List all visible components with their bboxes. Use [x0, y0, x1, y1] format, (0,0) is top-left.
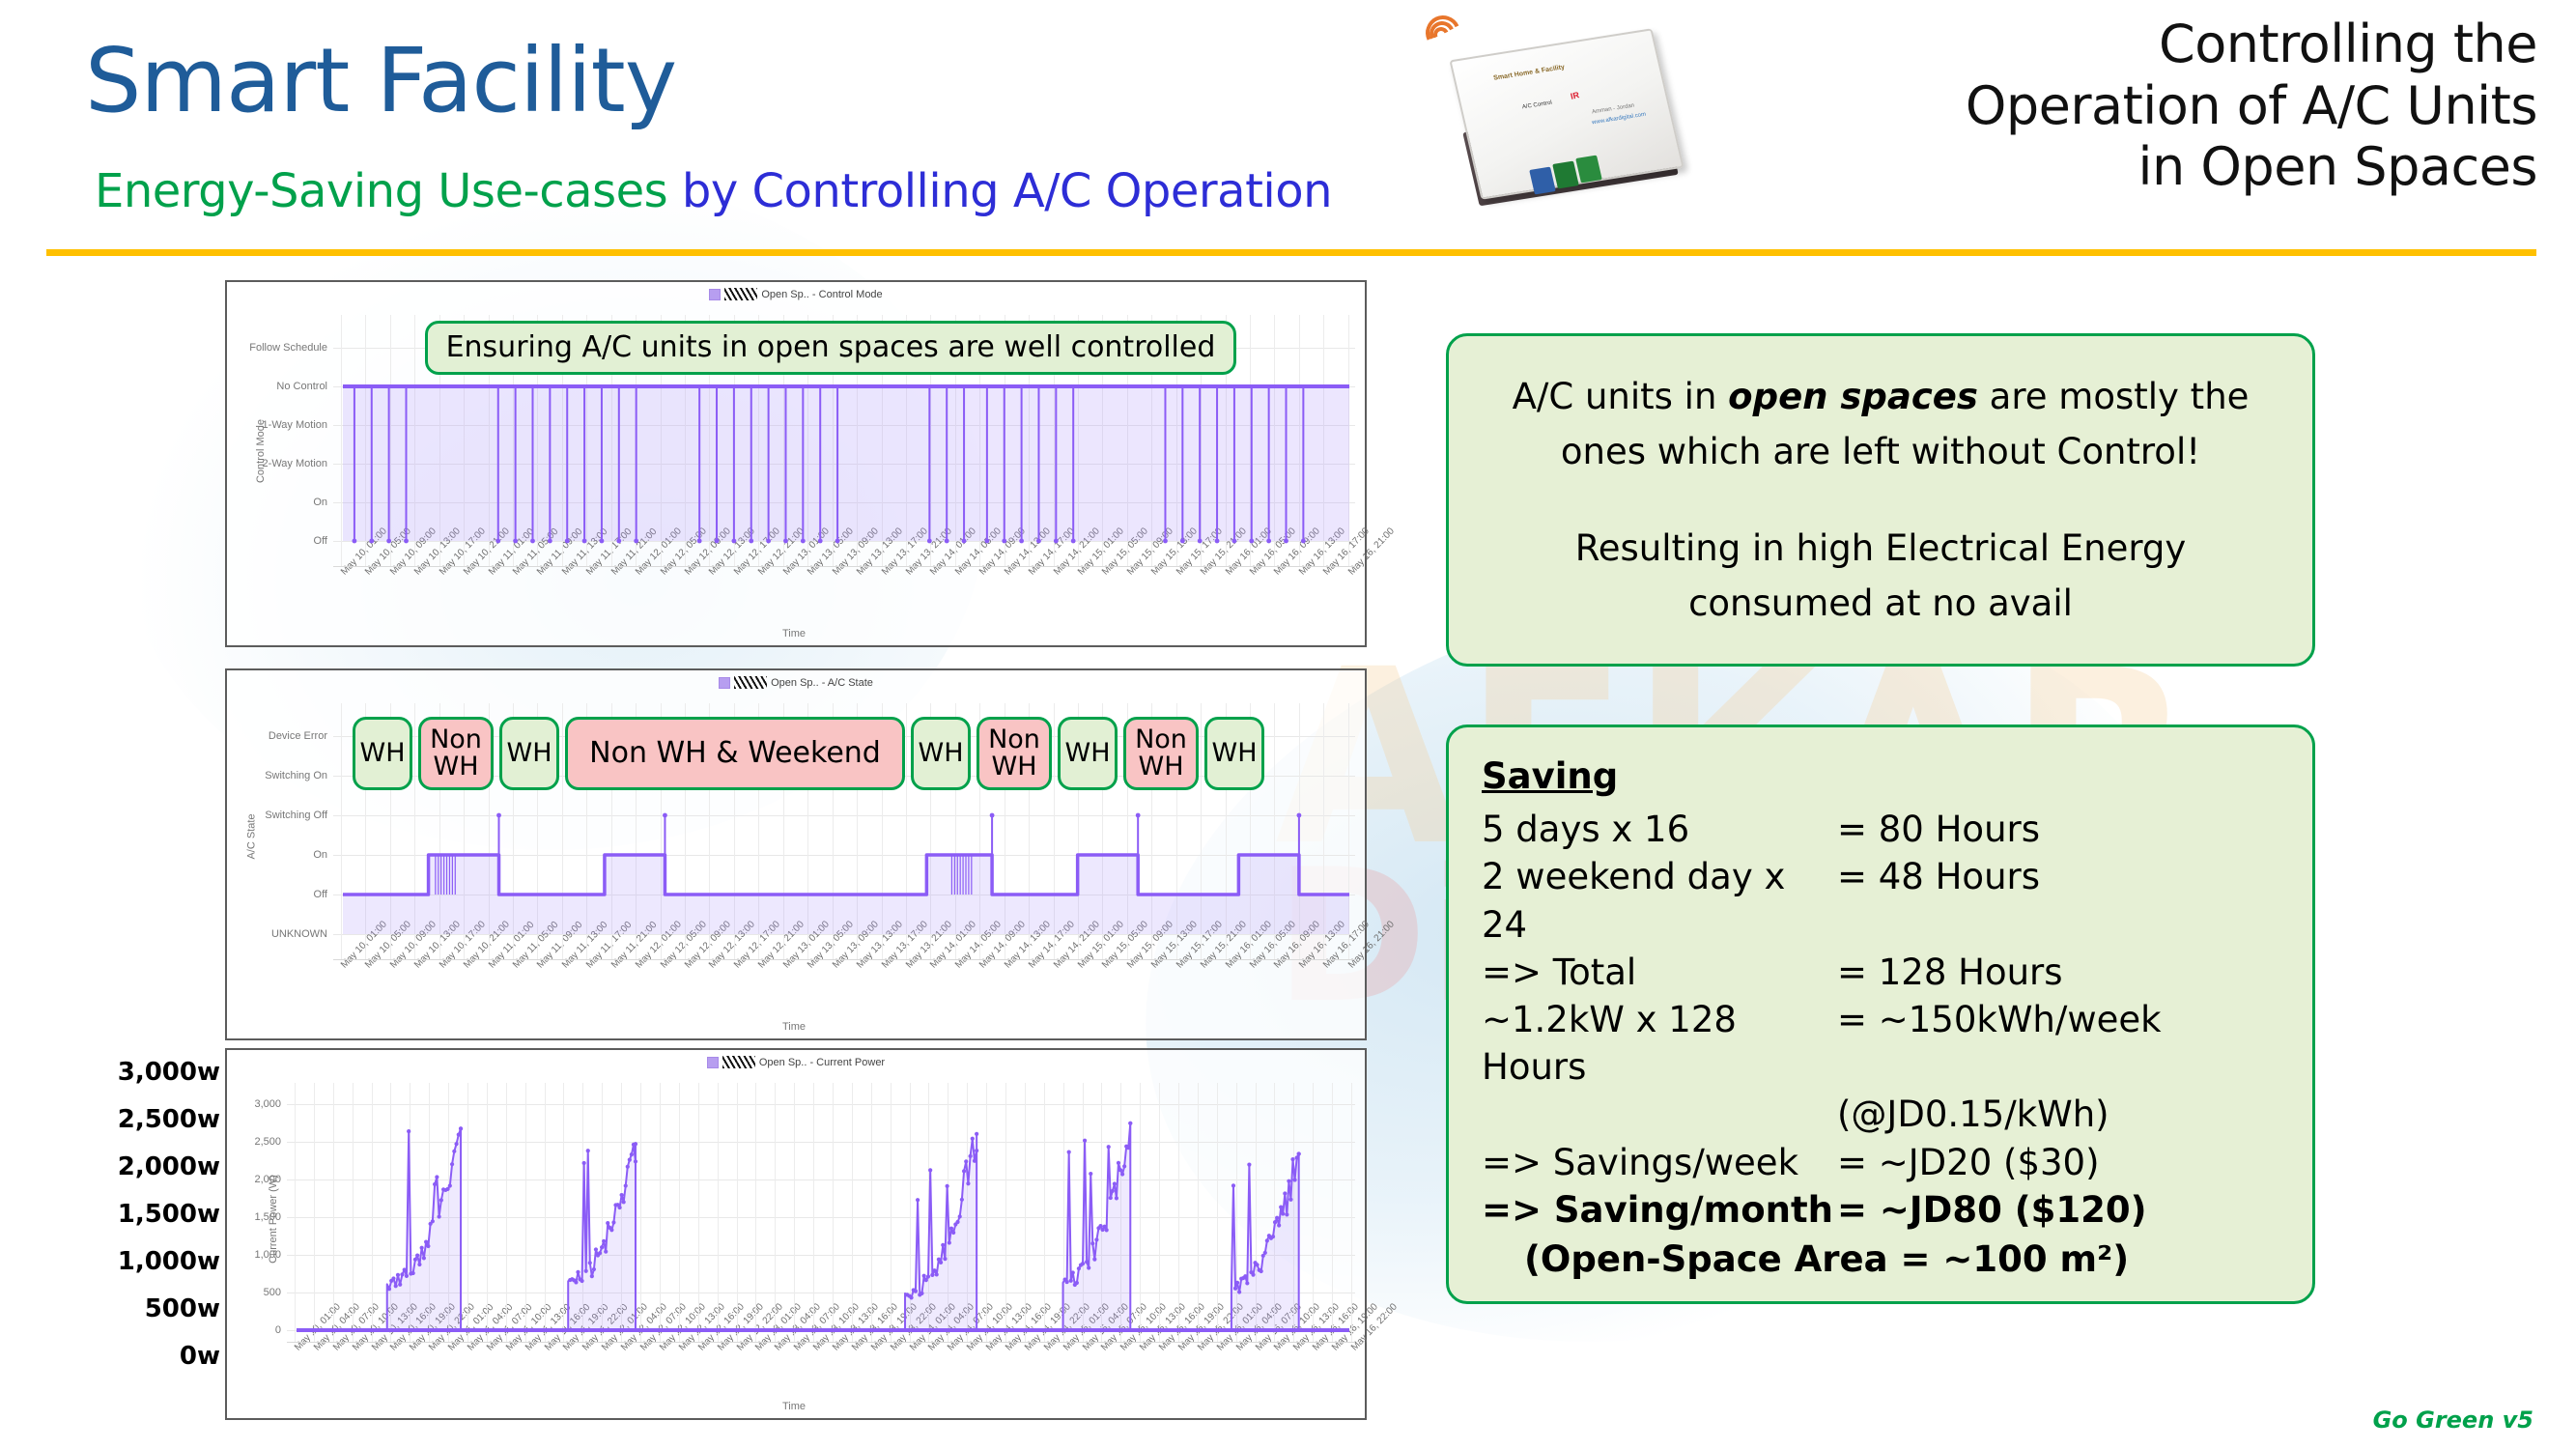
problem-statement-box: A/C units in open spaces are mostly the …	[1446, 333, 2315, 667]
slide-heading-line-2: Operation of A/C Units	[1966, 75, 2537, 137]
slide-heading: Controlling the Operation of A/C Units i…	[1966, 14, 2537, 198]
problem-line4: consumed at no avail	[1513, 576, 2250, 631]
chart3-x-axis-title: Time	[782, 1401, 806, 1412]
chart1-callout: Ensuring A/C units in open spaces are we…	[425, 321, 1236, 375]
savings-rows: 5 days x 16= 80 Hours2 weekend day x 24=…	[1482, 806, 2312, 1234]
y-axis-tick-label: Device Error	[269, 730, 327, 742]
y-axis-tick-label: 2,500	[254, 1136, 281, 1148]
savings-footnote-text: (Open-Space Area = ~100 m²)	[1524, 1238, 2129, 1280]
schedule-band-non-wh: Non WH	[977, 717, 1052, 790]
chart2-y-axis-title: A/C State	[246, 813, 258, 859]
schedule-band-wh: WH	[499, 717, 559, 790]
y-axis-tick-label: No Control	[276, 381, 327, 392]
wifi-wave-arc-3	[1421, 11, 1465, 55]
savings-row-value: (@JD0.15/kWh)	[1837, 1091, 2109, 1138]
power-axis-overlay-label: 0w	[180, 1342, 220, 1371]
savings-calculation-box: Saving 5 days x 16= 80 Hours2 weekend da…	[1446, 724, 2315, 1304]
schedule-band-non-wh: Non WH	[1123, 717, 1199, 790]
y-axis-tick-label: Off	[314, 889, 327, 900]
footer-version-label: Go Green v5	[2373, 1406, 2534, 1434]
schedule-band-wh: WH	[353, 717, 412, 790]
y-axis-tick-label: 500	[264, 1287, 281, 1298]
power-axis-overlay-label: 3,000w	[118, 1058, 220, 1087]
y-axis-tick-label: 1,000	[254, 1249, 281, 1261]
slide-heading-line-3: in Open Spaces	[1966, 136, 2537, 198]
savings-row-value: = 80 Hours	[1837, 806, 2040, 853]
savings-row-label: => Total	[1482, 949, 1837, 996]
y-axis-tick-label: 1-Way Motion	[263, 419, 327, 431]
savings-footnote: (Open-Space Area = ~100 m²)	[1524, 1236, 2312, 1283]
y-axis-tick-label: Switching On	[265, 770, 327, 781]
y-axis-tick-label: 2-Way Motion	[263, 458, 327, 469]
schedule-band-wh: WH	[911, 717, 971, 790]
y-axis-tick-label: Off	[314, 535, 327, 547]
problem-line3: Resulting in high Electrical Energy	[1513, 521, 2250, 576]
savings-row: ~1.2kW x 128 Hours= ~150kWh/week	[1482, 996, 2312, 1091]
page-title: Smart Facility	[85, 29, 676, 132]
schedule-band-wh: WH	[1058, 717, 1118, 790]
savings-title: Saving	[1482, 753, 2312, 800]
y-axis-tick-label: On	[313, 497, 327, 508]
savings-row-value: = 128 Hours	[1837, 949, 2063, 996]
y-axis-tick-label: Switching Off	[265, 810, 327, 821]
savings-row-value: = ~JD80 ($120)	[1837, 1186, 2147, 1234]
problem-line1-c: are mostly the	[1978, 376, 2249, 417]
savings-row: (@JD0.15/kWh)	[1482, 1091, 2312, 1138]
savings-row: => Total= 128 Hours	[1482, 949, 2312, 996]
y-axis-tick-label: 3,000	[254, 1098, 281, 1110]
problem-line2: ones which are left without Control!	[1513, 424, 2250, 479]
savings-row-label	[1482, 1091, 1837, 1138]
subtitle-green-part: Energy-Saving Use-cases	[95, 164, 667, 218]
savings-row-value: = 48 Hours	[1837, 853, 2040, 948]
problem-line1-emphasis: open spaces	[1728, 376, 1978, 417]
savings-row-label: => Saving/month	[1482, 1186, 1837, 1234]
savings-row-label: 2 weekend day x 24	[1482, 853, 1837, 948]
schedule-band-non-wh-weekend: Non WH & Weekend	[565, 717, 905, 790]
power-axis-overlay-label: 1,500w	[118, 1200, 220, 1229]
y-axis-tick-label: Follow Schedule	[249, 342, 327, 354]
power-axis-overlay-label: 2,500w	[118, 1105, 220, 1134]
device-ir-icon: IR	[1570, 90, 1580, 101]
savings-row-label: ~1.2kW x 128 Hours	[1482, 996, 1837, 1091]
savings-row-value: = ~150kWh/week	[1837, 996, 2162, 1091]
savings-row: 5 days x 16= 80 Hours	[1482, 806, 2312, 853]
chart-current-power[interactable]: Open Sp.. - Current Power Current Power …	[225, 1048, 1367, 1420]
schedule-band-non-wh: Non WH	[418, 717, 494, 790]
savings-row-label: 5 days x 16	[1482, 806, 1837, 853]
x-axis-tick-label: May 16, 22:00	[1349, 1342, 1361, 1353]
savings-row: => Savings/week= ~JD20 ($30)	[1482, 1139, 2312, 1186]
power-axis-overlay-label: 500w	[145, 1294, 220, 1323]
savings-row-label: => Savings/week	[1482, 1139, 1837, 1186]
y-axis-tick-label: 2,000	[254, 1174, 281, 1185]
power-axis-overlay-label: 2,000w	[118, 1152, 220, 1181]
y-axis-tick-label: 0	[275, 1324, 281, 1336]
savings-row: 2 weekend day x 24= 48 Hours	[1482, 853, 2312, 948]
savings-row-value: = ~JD20 ($30)	[1837, 1139, 2100, 1186]
series-path	[287, 1083, 1355, 1342]
savings-row: => Saving/month= ~JD80 ($120)	[1482, 1186, 2312, 1234]
y-axis-tick-label: UNKNOWN	[271, 928, 327, 940]
power-axis-overlay-label: 1,000w	[118, 1247, 220, 1276]
slide-heading-line-1: Controlling the	[1966, 14, 2537, 75]
ac-controller-device-photo: Smart Home & Facility IR A/C Control Amm…	[1428, 10, 1708, 237]
schedule-band-wh: WH	[1204, 717, 1264, 790]
x-axis-line	[287, 1342, 1355, 1343]
y-axis-tick-label: On	[313, 849, 327, 861]
problem-line1-a: A/C units in	[1513, 376, 1729, 417]
header-divider	[46, 249, 2536, 256]
y-axis-tick-label: 1,500	[254, 1211, 281, 1223]
chart3-plot-area: 05001,0001,5002,0002,5003,000May 10, 01:…	[287, 1083, 1355, 1342]
